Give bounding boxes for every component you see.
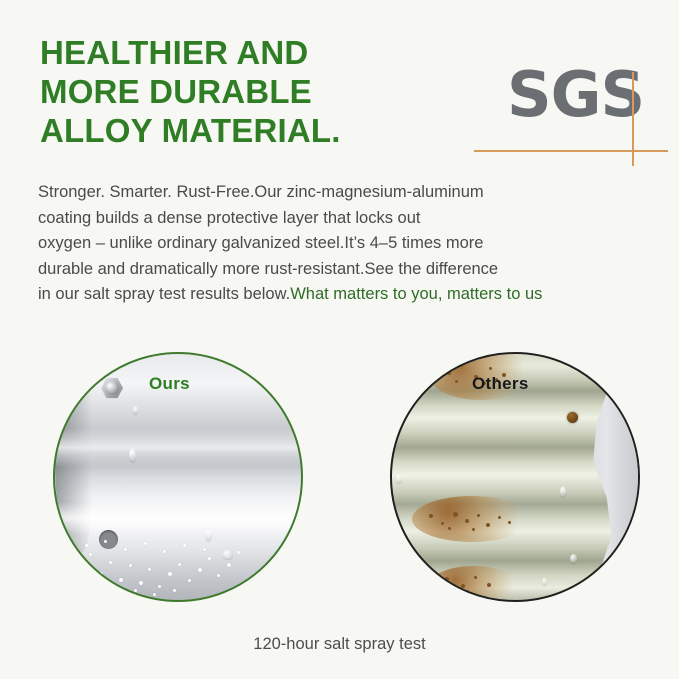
water-droplet <box>542 578 547 585</box>
sgs-logo-text: SGS <box>507 64 644 126</box>
disc-label-others: Others <box>472 374 529 394</box>
comparison-panel-others: Others <box>390 352 640 602</box>
description-line-2: coating builds a dense protective layer … <box>38 206 648 232</box>
water-droplet <box>570 554 577 563</box>
bolt-icon <box>101 377 123 399</box>
water-droplet <box>396 474 402 483</box>
comparison-panel-ours: Ours <box>53 352 303 602</box>
description-line-5-prefix: in our salt spray test results below. <box>38 285 290 303</box>
sgs-certification-logo: SGS <box>478 66 668 166</box>
description-line-3: oxygen – unlike ordinary galvanized stee… <box>38 231 648 257</box>
water-droplet <box>133 406 138 414</box>
headline-line-3: ALLOY MATERIAL. <box>40 111 440 150</box>
others-torn-edge <box>556 354 640 600</box>
water-droplet <box>129 448 136 462</box>
water-droplet <box>560 486 566 497</box>
description-line-5: in our salt spray test results below.Wha… <box>38 282 648 308</box>
bolt-core <box>105 381 119 395</box>
rust-spot <box>567 412 578 423</box>
disc-label-ours: Ours <box>149 374 190 394</box>
description-line-4: durable and dramatically more rust-resis… <box>38 257 648 283</box>
description-line-1: Stronger. Smarter. Rust-Free.Our zinc-ma… <box>38 180 648 206</box>
headline-line-2: MORE DURABLE <box>40 72 440 111</box>
salt-spray-comparison: Ours <box>0 352 679 602</box>
sgs-logo-vertical-rule <box>632 72 634 166</box>
header: HEALTHIER AND MORE DURABLE ALLOY MATERIA… <box>0 0 679 175</box>
rust-patch <box>426 566 522 602</box>
sgs-logo-horizontal-rule <box>474 150 668 152</box>
headline-line-1: HEALTHIER AND <box>40 33 440 72</box>
page-title: HEALTHIER AND MORE DURABLE ALLOY MATERIA… <box>40 33 440 150</box>
description-paragraph: Stronger. Smarter. Rust-Free.Our zinc-ma… <box>38 180 648 308</box>
ours-water-mist <box>55 507 301 600</box>
brand-tagline: What matters to you, matters to us <box>290 285 542 303</box>
test-caption: 120-hour salt spray test <box>0 635 679 654</box>
rust-patch <box>412 496 532 542</box>
ours-highlight-band-1 <box>55 428 301 467</box>
